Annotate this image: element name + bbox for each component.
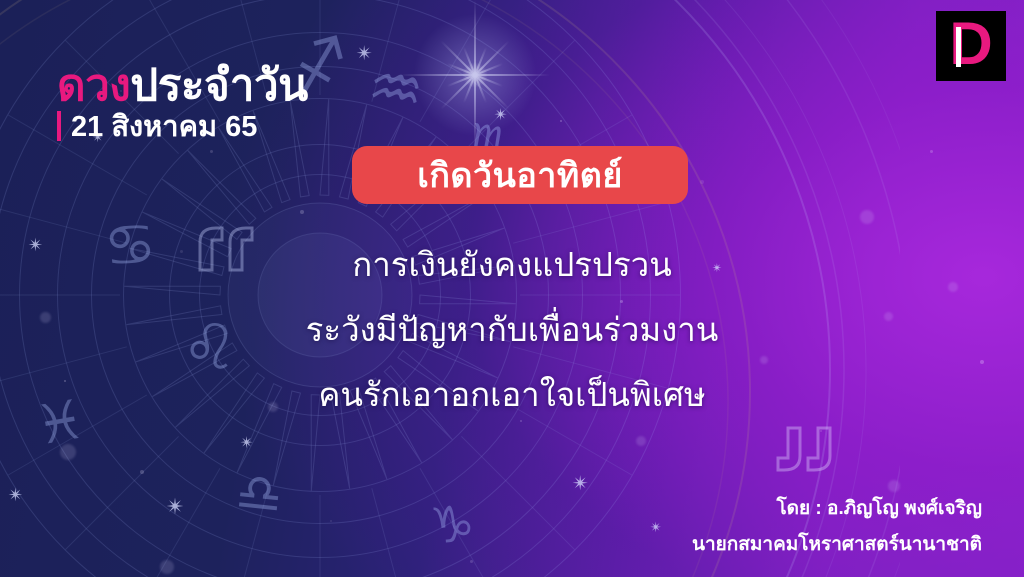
date-line: 21 สิงหาคม 65	[57, 103, 257, 149]
starburst-ray	[463, 47, 487, 103]
starburst-ray	[447, 63, 503, 87]
star-dot	[330, 520, 332, 522]
starburst-ray	[474, 0, 476, 150]
horoscope-line: คนรักเอาอกเอาใจเป็นพิเศษ	[0, 378, 1024, 411]
star-dot	[560, 120, 562, 122]
star-dot	[300, 210, 304, 214]
bokeh-circle	[888, 480, 900, 492]
starburst-ray	[447, 63, 503, 87]
credit-role: นายกสมาคมโหราศาสตร์นานาชาติ	[692, 529, 982, 559]
sparkle-star-icon: ✴	[8, 486, 23, 504]
starburst-ray	[400, 74, 550, 76]
dara-logo[interactable]: D	[936, 11, 1006, 81]
star-dot	[140, 470, 144, 474]
credit-block: โดย : อ.ภิญโญ พงศ์เจริญ นายกสมาคมโหราศาส…	[692, 493, 982, 559]
date-text: 21 สิงหาคม 65	[71, 103, 257, 149]
day-badge: เกิดวันอาทิตย์	[352, 146, 688, 204]
sparkle-star-icon: ✴	[494, 108, 507, 124]
logo-stripe	[956, 27, 961, 67]
main-starburst	[400, 0, 550, 150]
horoscope-line: การเงินยังคงแปรปรวน	[0, 248, 1024, 281]
starburst-ray	[440, 40, 509, 109]
day-badge-label: เกิดวันอาทิตย์	[417, 148, 623, 202]
star-dot	[700, 180, 704, 184]
logo-letter: D	[936, 11, 1006, 81]
star-dot	[210, 150, 213, 153]
sparkle-star-icon: ✴	[166, 496, 184, 518]
zodiac-glyph-aquarius: ♒	[364, 54, 428, 123]
horoscope-line: ระวังมีปัญหากับเพื่อนร่วมงาน	[0, 313, 1024, 346]
horoscope-graphic: ♐♒♋♌♓♎♑♏✴✴✴✴✴✴✴✴✴✴ D ดวงประจำวัน 21 สิงห…	[0, 0, 1024, 577]
bokeh-circle	[860, 210, 874, 224]
bokeh-circle	[60, 444, 76, 460]
sparkle-star-icon: ✴	[572, 474, 589, 494]
starburst-ray	[440, 40, 509, 109]
starburst-ray	[463, 47, 487, 103]
sparkle-star-icon: ✴	[650, 520, 662, 534]
bokeh-circle	[160, 560, 174, 574]
star-dot	[930, 150, 933, 153]
sparkle-star-icon: ✴	[356, 44, 373, 64]
horoscope-body: การเงินยังคงแปรปรวน ระวังมีปัญหากับเพื่อ…	[0, 248, 1024, 443]
credit-author: โดย : อ.ภิญโญ พงศ์เจริญ	[692, 493, 982, 523]
zodiac-glyph-capricorn: ♑	[428, 498, 476, 551]
star-dot	[470, 560, 473, 563]
zodiac-glyph-libra: ♎	[233, 466, 285, 523]
date-accent-bar	[57, 111, 61, 141]
